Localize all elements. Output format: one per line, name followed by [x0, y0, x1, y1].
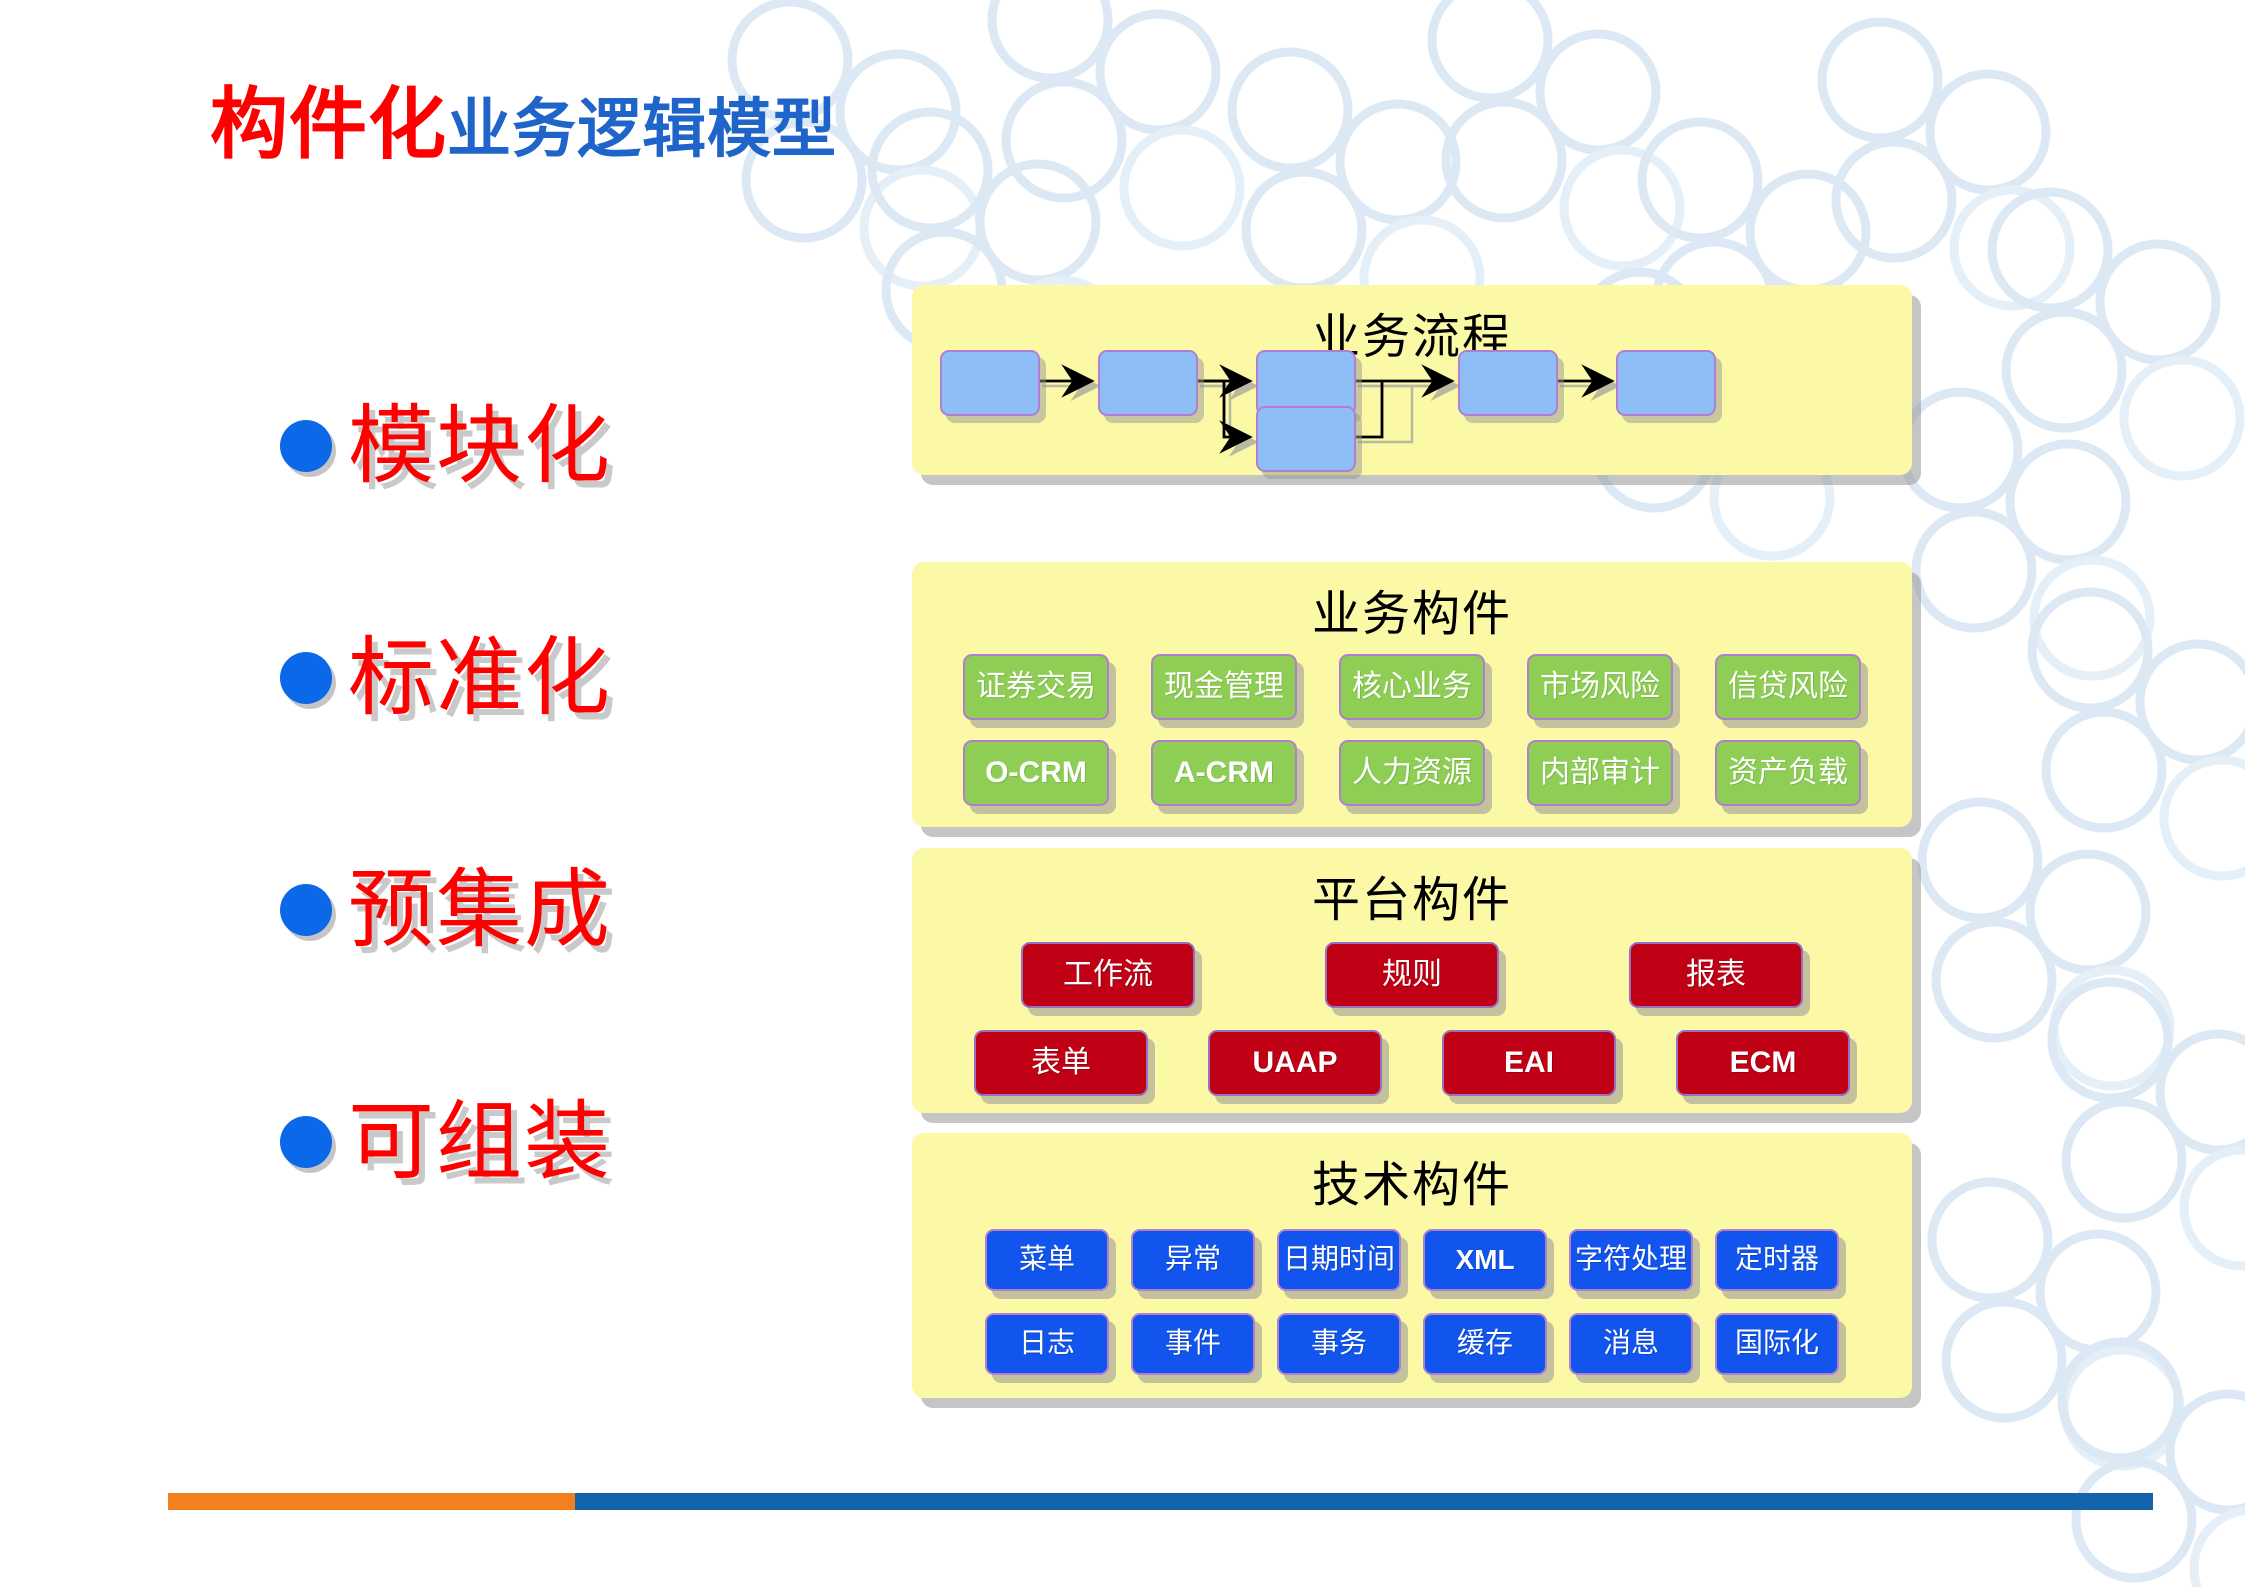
- chip-business[interactable]: 市场风险: [1527, 654, 1673, 720]
- list-item[interactable]: 预集成: [280, 794, 840, 1026]
- panel-title: 平台构件: [912, 860, 1912, 930]
- panel-title: 业务构件: [912, 574, 1912, 644]
- chip-platform[interactable]: 规则: [1325, 942, 1499, 1008]
- chip-business[interactable]: 内部审计: [1527, 740, 1673, 806]
- chip-technical[interactable]: 定时器: [1715, 1229, 1839, 1291]
- bullet-dot-icon: [280, 420, 332, 472]
- flow-node[interactable]: [1458, 350, 1558, 416]
- chip-platform[interactable]: EAI: [1442, 1030, 1616, 1096]
- chip-technical[interactable]: 日志: [985, 1313, 1109, 1375]
- chip-row: 菜单 异常 日期时间 XML 字符处理 定时器: [912, 1229, 1912, 1291]
- flow-diagram: [912, 285, 1912, 475]
- flow-node[interactable]: [940, 350, 1040, 416]
- bullet-dot-icon: [280, 884, 332, 936]
- bullet-label: 标准化: [348, 635, 612, 721]
- chip-technical[interactable]: 国际化: [1715, 1313, 1839, 1375]
- chip-row: O-CRM A-CRM 人力资源 内部审计 资产负载: [912, 740, 1912, 806]
- chip-technical[interactable]: 异常: [1131, 1229, 1255, 1291]
- chip-technical[interactable]: 消息: [1569, 1313, 1693, 1375]
- chip-row: 表单 UAAP EAI ECM: [912, 1030, 1912, 1096]
- chip-business[interactable]: A-CRM: [1151, 740, 1297, 806]
- business-chip-grid: 证券交易 现金管理 核心业务 市场风险 信贷风险 O-CRM A-CRM 人力资…: [912, 654, 1912, 826]
- list-item[interactable]: 可组装: [280, 1026, 840, 1258]
- footer-bar-orange-segment: [168, 1493, 575, 1510]
- panel-title: 技术构件: [912, 1145, 1912, 1215]
- flow-node[interactable]: [1256, 406, 1356, 472]
- chip-platform[interactable]: UAAP: [1208, 1030, 1382, 1096]
- chip-platform[interactable]: 表单: [974, 1030, 1148, 1096]
- chip-business[interactable]: O-CRM: [963, 740, 1109, 806]
- chip-business[interactable]: 资产负载: [1715, 740, 1861, 806]
- flow-node[interactable]: [1098, 350, 1198, 416]
- chip-technical[interactable]: 日期时间: [1277, 1229, 1401, 1291]
- panel-business-process: 业务流程: [912, 285, 1912, 475]
- bullet-dot-icon: [280, 652, 332, 704]
- technical-chip-grid: 菜单 异常 日期时间 XML 字符处理 定时器 日志 事件 事务 缓存 消息 国…: [912, 1229, 1912, 1397]
- chip-business[interactable]: 信贷风险: [1715, 654, 1861, 720]
- chip-technical[interactable]: 字符处理: [1569, 1229, 1693, 1291]
- list-item[interactable]: 标准化: [280, 562, 840, 794]
- panel-technical-components: 技术构件 菜单 异常 日期时间 XML 字符处理 定时器 日志 事件 事务 缓存…: [912, 1133, 1912, 1398]
- chip-business[interactable]: 证券交易: [963, 654, 1109, 720]
- chip-row: 证券交易 现金管理 核心业务 市场风险 信贷风险: [912, 654, 1912, 720]
- chip-technical[interactable]: 事件: [1131, 1313, 1255, 1375]
- bullet-dot-icon: [280, 1116, 332, 1168]
- page-title: 构件化业务逻辑模型: [210, 86, 837, 164]
- footer-bar-blue-segment: [575, 1493, 2153, 1510]
- chip-technical[interactable]: 菜单: [985, 1229, 1109, 1291]
- bullet-list: 模块化 标准化 预集成 可组装: [280, 330, 840, 1258]
- panel-business-components: 业务构件 证券交易 现金管理 核心业务 市场风险 信贷风险 O-CRM A-CR…: [912, 562, 1912, 827]
- chip-business[interactable]: 人力资源: [1339, 740, 1485, 806]
- page-title-red: 构件化: [210, 81, 447, 168]
- chip-row: 工作流 规则 报表: [912, 942, 1912, 1008]
- flow-node[interactable]: [1616, 350, 1716, 416]
- list-item[interactable]: 模块化: [280, 330, 840, 562]
- chip-business[interactable]: 核心业务: [1339, 654, 1485, 720]
- platform-chip-grid: 工作流 规则 报表 表单 UAAP EAI ECM: [912, 942, 1912, 1118]
- chip-technical[interactable]: 缓存: [1423, 1313, 1547, 1375]
- bullet-label: 模块化: [348, 403, 612, 489]
- panel-platform-components: 平台构件 工作流 规则 报表 表单 UAAP EAI ECM: [912, 848, 1912, 1113]
- chip-technical[interactable]: 事务: [1277, 1313, 1401, 1375]
- chip-platform[interactable]: 工作流: [1021, 942, 1195, 1008]
- chip-platform[interactable]: 报表: [1629, 942, 1803, 1008]
- page-title-blue: 业务逻辑模型: [447, 94, 837, 165]
- chip-business[interactable]: 现金管理: [1151, 654, 1297, 720]
- bullet-label: 预集成: [348, 867, 612, 953]
- footer-accent-bar: [168, 1493, 2153, 1510]
- chip-technical[interactable]: XML: [1423, 1229, 1547, 1291]
- chip-platform[interactable]: ECM: [1676, 1030, 1850, 1096]
- bullet-label: 可组装: [348, 1099, 612, 1185]
- chip-row: 日志 事件 事务 缓存 消息 国际化: [912, 1313, 1912, 1375]
